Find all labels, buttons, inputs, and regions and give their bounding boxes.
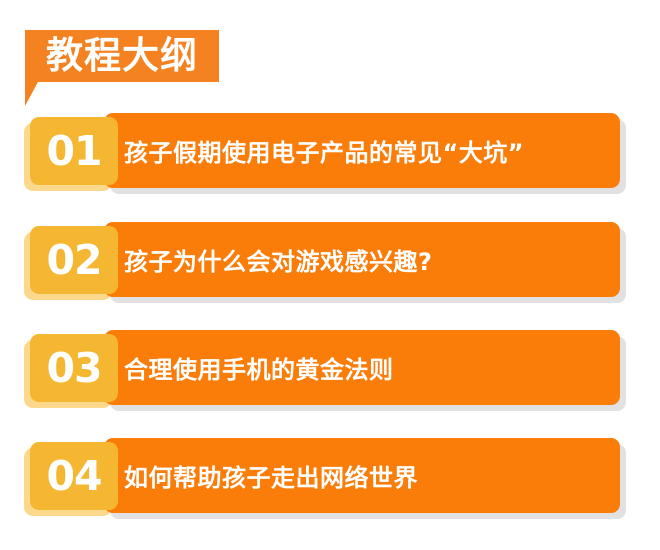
title-banner-body: 教程大纲: [25, 30, 219, 82]
outline-item-04[interactable]: 如何帮助孩子走出网络世界 04: [0, 438, 660, 528]
outline-bar[interactable]: 孩子假期使用电子产品的常见“大坑”: [104, 113, 620, 188]
outline-bar[interactable]: 如何帮助孩子走出网络世界: [104, 438, 620, 513]
outline-item-02[interactable]: 孩子为什么会对游戏感兴趣? 02: [0, 222, 660, 312]
outline-bar[interactable]: 孩子为什么会对游戏感兴趣?: [104, 222, 620, 297]
outline-number-badge: 02: [30, 226, 118, 294]
outline-number: 01: [46, 131, 101, 172]
outline-number: 03: [46, 348, 101, 389]
outline-number: 02: [46, 240, 101, 281]
outline-item-03[interactable]: 合理使用手机的黄金法则 03: [0, 330, 660, 420]
outline-number: 04: [46, 456, 101, 497]
speech-bubble-tail-icon: [25, 82, 51, 106]
outline-bar[interactable]: 合理使用手机的黄金法则: [104, 330, 620, 405]
page-title: 教程大纲: [46, 37, 198, 74]
outline-label: 孩子假期使用电子产品的常见“大坑”: [104, 133, 524, 168]
outline-number-badge: 01: [30, 117, 118, 185]
outline-label: 合理使用手机的黄金法则: [104, 350, 394, 385]
outline-number-badge: 04: [30, 442, 118, 510]
outline-label: 孩子为什么会对游戏感兴趣?: [104, 242, 432, 277]
title-banner: 教程大纲: [25, 30, 219, 82]
outline-number-badge: 03: [30, 334, 118, 402]
outline-label: 如何帮助孩子走出网络世界: [104, 458, 418, 493]
outline-item-01[interactable]: 孩子假期使用电子产品的常见“大坑” 01: [0, 113, 660, 203]
